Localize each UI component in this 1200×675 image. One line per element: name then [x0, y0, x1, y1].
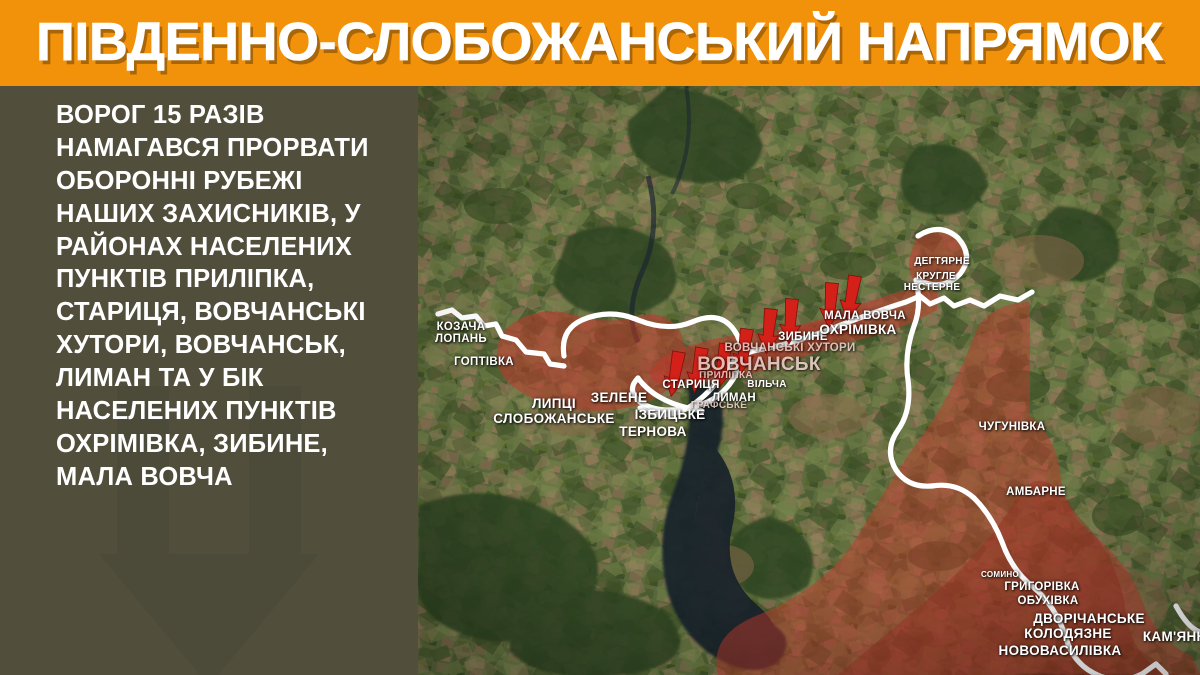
- map-area[interactable]: КОЗАЧАЛОПАНЬГОПТІВКАЛИПЦІСЛОБОЖАНСЬКЕЗЕЛ…: [418, 86, 1200, 675]
- info-panel: Ворог 15 разів намагався прорвати оборон…: [0, 86, 418, 675]
- page-title: ПІВДЕННО-СЛОБОЖАНСЬКИЙ НАПРЯМОК: [36, 15, 1162, 69]
- header-banner: ПІВДЕННО-СЛОБОЖАНСЬКИЙ НАПРЯМОК: [0, 0, 1200, 86]
- map-canvas: [418, 86, 1200, 675]
- infographic-root: ПІВДЕННО-СЛОБОЖАНСЬКИЙ НАПРЯМОК Ворог 15…: [0, 0, 1200, 675]
- panel-body-text: Ворог 15 разів намагався прорвати оборон…: [56, 99, 408, 494]
